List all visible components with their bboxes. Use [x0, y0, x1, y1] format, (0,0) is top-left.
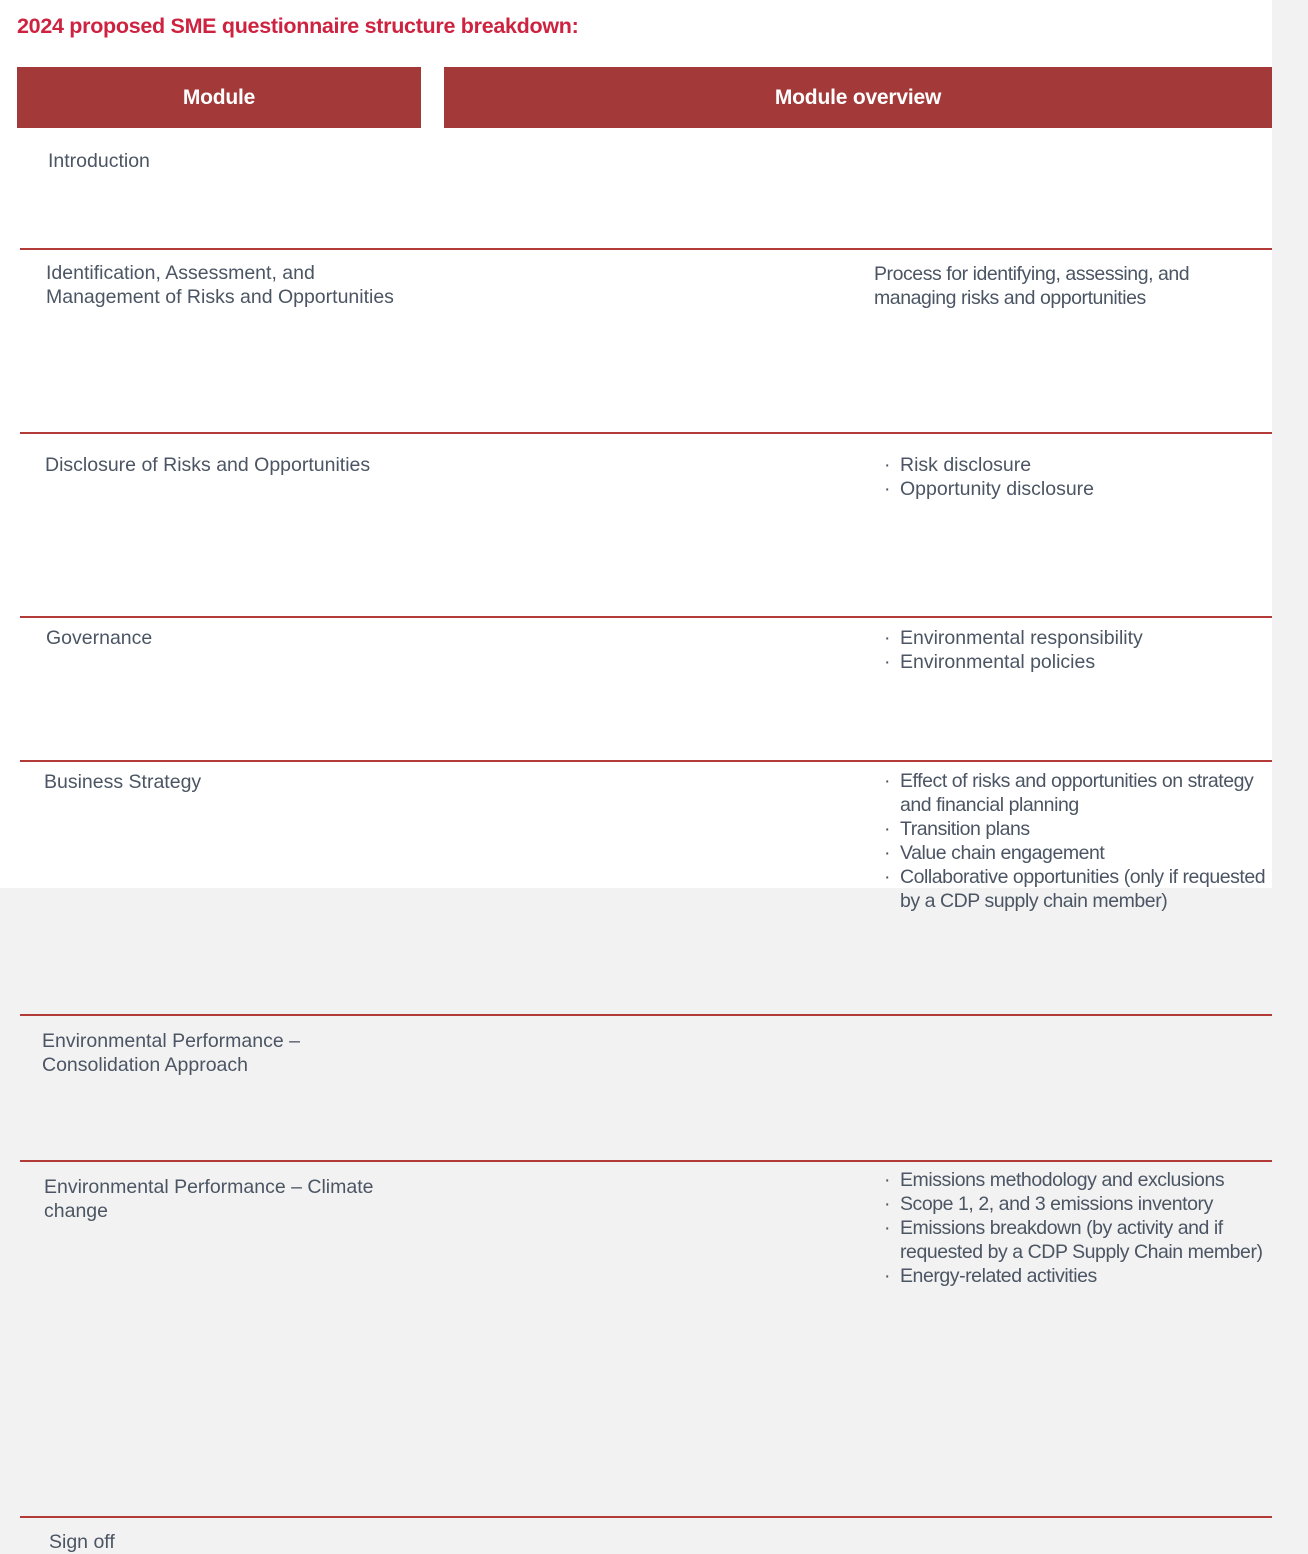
- page-title: 2024 proposed SME questionnaire structur…: [17, 14, 578, 39]
- table-row: Sign off: [0, 822, 1272, 887]
- list-item: ·Scope 1, 2, and 3 emissions inventory: [874, 1192, 1308, 1216]
- page-canvas: 2024 proposed SME questionnaire structur…: [0, 0, 1308, 888]
- module-name: Introduction: [48, 150, 150, 172]
- bullet-icon: ·: [884, 1192, 890, 1216]
- overview-bullet-list: ·Emissions methodology and exclusions ·S…: [874, 1168, 1308, 1288]
- table-row: Environmental Performance – Climate chan…: [0, 644, 1272, 822]
- table-header-module-overview: Module overview: [444, 67, 1272, 128]
- overview-column-1: ·Emissions methodology and exclusions ·S…: [874, 1168, 1308, 1288]
- list-item-label: Scope 1, 2, and 3 emissions inventory: [900, 1193, 1213, 1215]
- table-row: Disclosure of Risks and Opportunities ·R…: [0, 280, 1272, 372]
- module-name: Sign off: [49, 1531, 115, 1553]
- list-item-label: Energy-related activities: [900, 1265, 1097, 1287]
- table-row: Governance ·Environmental responsibility…: [0, 372, 1272, 444]
- list-item: ·Energy-related activities: [874, 1264, 1308, 1288]
- list-item: ·Emissions methodology and exclusions: [874, 1168, 1308, 1192]
- list-item: ·Emissions breakdown (by activity and if…: [874, 1216, 1308, 1264]
- table-header-module-overview-label: Module overview: [775, 86, 941, 110]
- bullet-icon: ·: [884, 1216, 890, 1240]
- table-header-module-label: Module: [183, 86, 255, 110]
- modules-table: Introduction Identification, Assessment,…: [0, 128, 1272, 887]
- bullet-icon: ·: [884, 1264, 890, 1288]
- list-item-label: Emissions methodology and exclusions: [900, 1169, 1224, 1191]
- module-name-cell: Introduction: [0, 128, 427, 173]
- row-divider: [20, 1516, 1272, 1518]
- module-overview-cell: ·Emissions methodology and exclusions ·S…: [427, 644, 1308, 1288]
- row-divider: [20, 248, 1272, 250]
- list-item-label: Emissions breakdown (by activity and if …: [900, 1217, 1263, 1263]
- bullet-icon: ·: [884, 1168, 890, 1192]
- table-row: Introduction: [0, 128, 1272, 188]
- table-row: Identification, Assessment, and Manageme…: [0, 188, 1272, 280]
- table-row: Environmental Performance – Consolidatio…: [0, 571, 1272, 644]
- table-row: Business Strategy ·Effect of risks and o…: [0, 444, 1272, 571]
- module-name-cell: Sign off: [0, 822, 427, 1554]
- document-sheet: 2024 proposed SME questionnaire structur…: [0, 0, 1272, 888]
- table-header-module: Module: [17, 67, 421, 128]
